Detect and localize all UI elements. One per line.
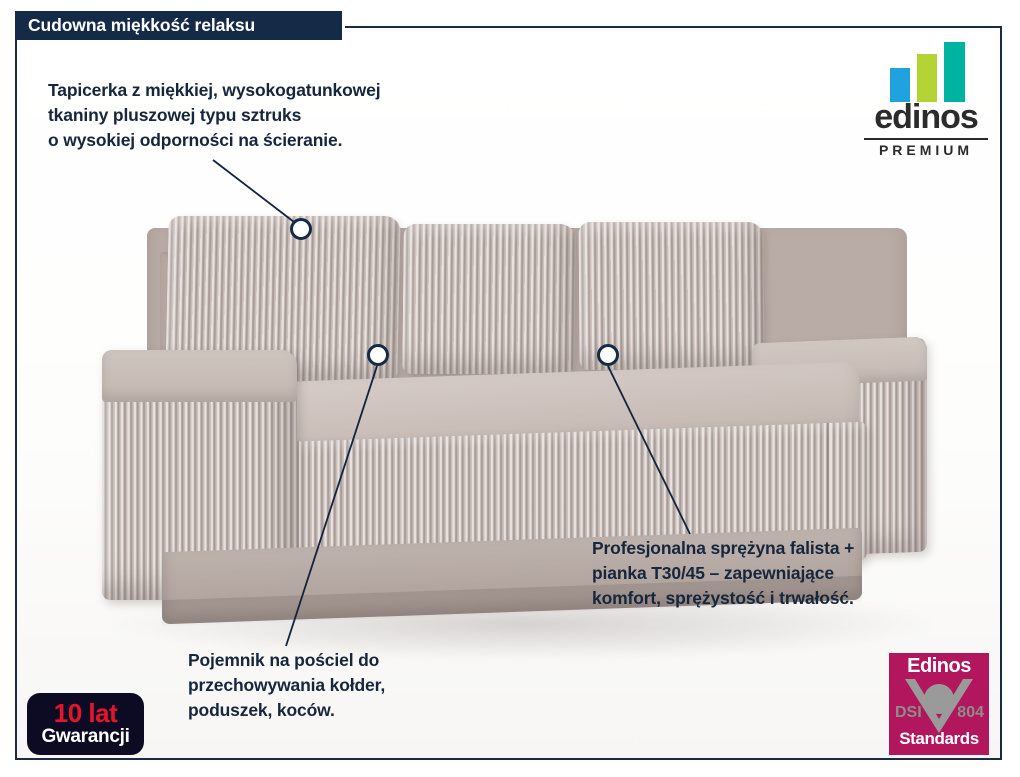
sofa-arm-left-top: [102, 350, 297, 402]
logo-wordmark: edinos: [858, 100, 994, 134]
dsi-brand: Edinos: [889, 656, 989, 676]
warranty-label: Gwarancji: [41, 726, 129, 748]
callout-marker-fabric[interactable]: [290, 218, 312, 240]
logo-divider: [864, 138, 988, 140]
sofa-back-cushion-middle: [402, 224, 576, 374]
logo-bars-icon: [890, 42, 966, 102]
edinos-premium-logo: edinos PREMIUM: [858, 42, 994, 167]
callout-text-storage: Pojemnik na pościel do przechowywania ko…: [188, 648, 518, 723]
page-title: Cudowna miękkość relaksu: [28, 17, 255, 35]
callout-text-fabric: Tapicerka z miękkiej, wysokogatunkowej t…: [48, 78, 568, 153]
warranty-years: 10 lat: [54, 700, 118, 726]
warranty-badge: 10 lat Gwarancji: [27, 693, 144, 755]
callout-text-spring: Profesjonalna sprężyna falista + pianka …: [592, 536, 992, 611]
logo-bar-green-icon: [917, 54, 937, 102]
dsi-code-right: 804: [957, 705, 984, 721]
logo-subtitle: PREMIUM: [858, 143, 994, 157]
callout-marker-spring[interactable]: [597, 344, 619, 366]
dsi-standards-badge: Edinos DSI 804 Standards: [889, 653, 989, 755]
poster-canvas: Cudowna miękkość relaksu Tapicerka z mię…: [0, 0, 1020, 777]
callout-marker-storage[interactable]: [367, 344, 389, 366]
logo-bar-teal-icon: [944, 42, 965, 102]
dsi-standards-label: Standards: [889, 730, 989, 747]
logo-bar-blue-icon: [890, 68, 910, 102]
dsi-code-left: DSI: [895, 705, 922, 721]
page-title-banner: Cudowna miękkość relaksu: [15, 11, 342, 41]
